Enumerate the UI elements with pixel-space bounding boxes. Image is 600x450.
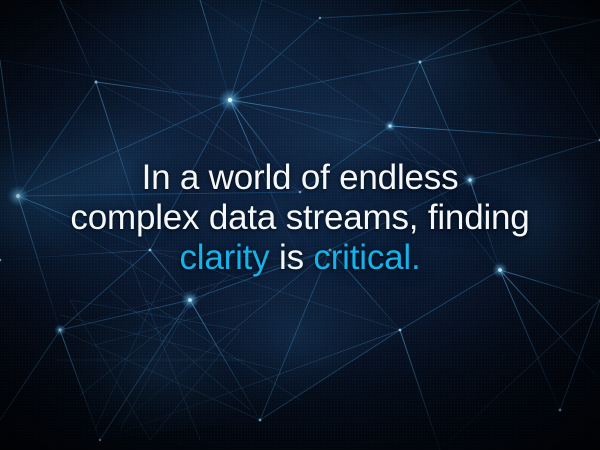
- headline-line-2: complex data streams, finding: [0, 198, 600, 238]
- headline-line-1: In a world of endless: [0, 158, 600, 198]
- headline-accent-clarity: clarity: [179, 238, 269, 277]
- headline: In a world of endless complex data strea…: [0, 158, 600, 278]
- headline-text-1: In a world of endless: [142, 158, 459, 197]
- hero-banner: In a world of endless complex data strea…: [0, 0, 600, 450]
- headline-text-2: complex data streams, finding: [70, 198, 529, 237]
- headline-line-3: clarity is critical.: [0, 238, 600, 278]
- headline-accent-critical: critical.: [313, 238, 420, 277]
- headline-text-is: is: [269, 238, 313, 277]
